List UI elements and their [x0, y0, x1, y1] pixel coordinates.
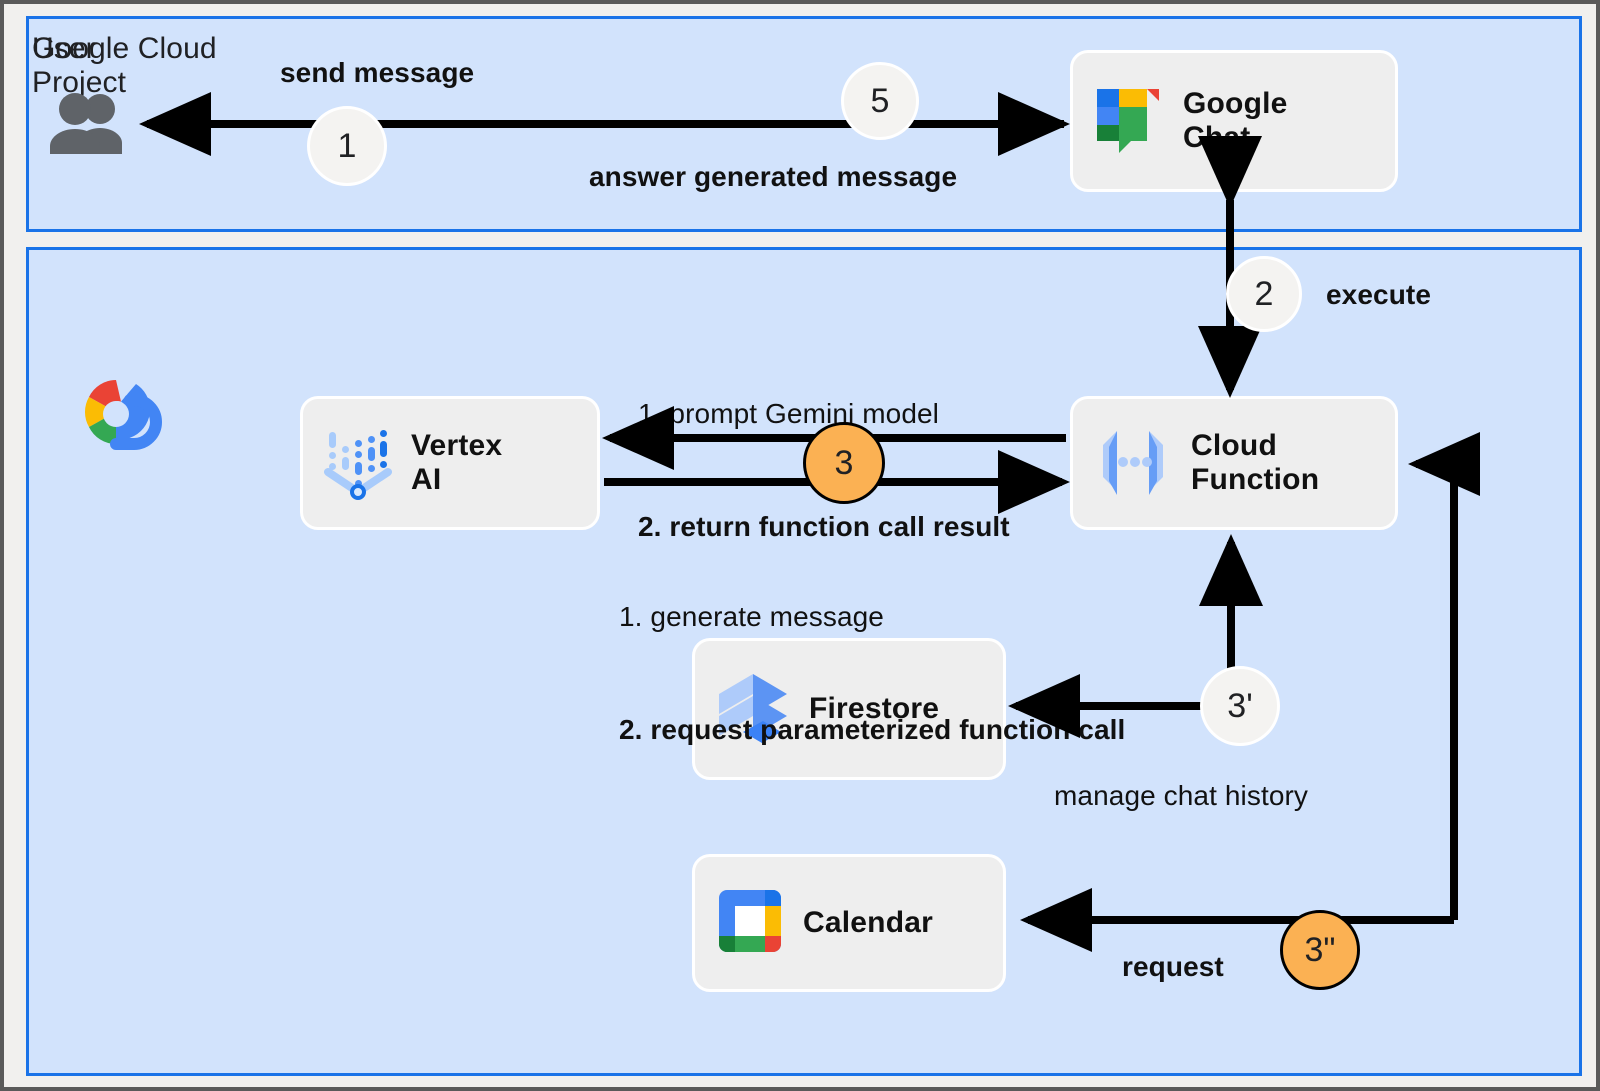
node-calendar-label: Calendar — [803, 906, 933, 940]
node-vertex-ai[interactable]: Vertex AI — [300, 396, 600, 530]
edge-label-generate-message: 1. generate message — [619, 598, 1125, 636]
edge-label-answer-generated-message: answer generated message — [589, 158, 957, 196]
diagram-canvas: User send message answer generated messa… — [0, 0, 1600, 1091]
edge-label-send-message: send message — [280, 54, 474, 92]
node-google-chat[interactable]: Google Chat — [1070, 50, 1398, 192]
badge-step-1: 1 — [307, 106, 387, 186]
users-icon — [48, 92, 126, 159]
badge-step-3-prime: 3' — [1200, 666, 1280, 746]
panel-gcp-title: Google Cloud Project — [32, 32, 217, 100]
node-calendar[interactable]: Calendar — [692, 854, 1006, 992]
google-chat-icon — [1091, 81, 1167, 162]
edge-label-request: request — [1122, 948, 1224, 986]
node-vertex-ai-label: Vertex AI — [411, 429, 502, 496]
node-cloud-function[interactable]: Cloud Function — [1070, 396, 1398, 530]
cloud-function-icon — [1091, 419, 1175, 508]
node-cloud-function-label: Cloud Function — [1191, 429, 1319, 496]
google-cloud-icon — [66, 372, 166, 461]
badge-step-2: 2 — [1226, 256, 1302, 332]
badge-step-3-double-prime: 3" — [1280, 910, 1360, 990]
edge-label-request-parameterized-function-call: 2. request parameterized function call — [619, 711, 1125, 749]
edge-label-manage-chat-history: manage chat history — [1054, 777, 1308, 815]
google-calendar-icon — [713, 884, 787, 963]
badge-step-3: 3 — [803, 422, 885, 504]
vertex-ai-icon — [321, 422, 395, 505]
node-google-chat-label: Google Chat — [1183, 87, 1288, 154]
badge-step-5: 5 — [841, 62, 919, 140]
edge-label-execute: execute — [1326, 276, 1431, 314]
edge-label-function-to-vertex: 1. generate message 2. request parameter… — [619, 522, 1125, 824]
